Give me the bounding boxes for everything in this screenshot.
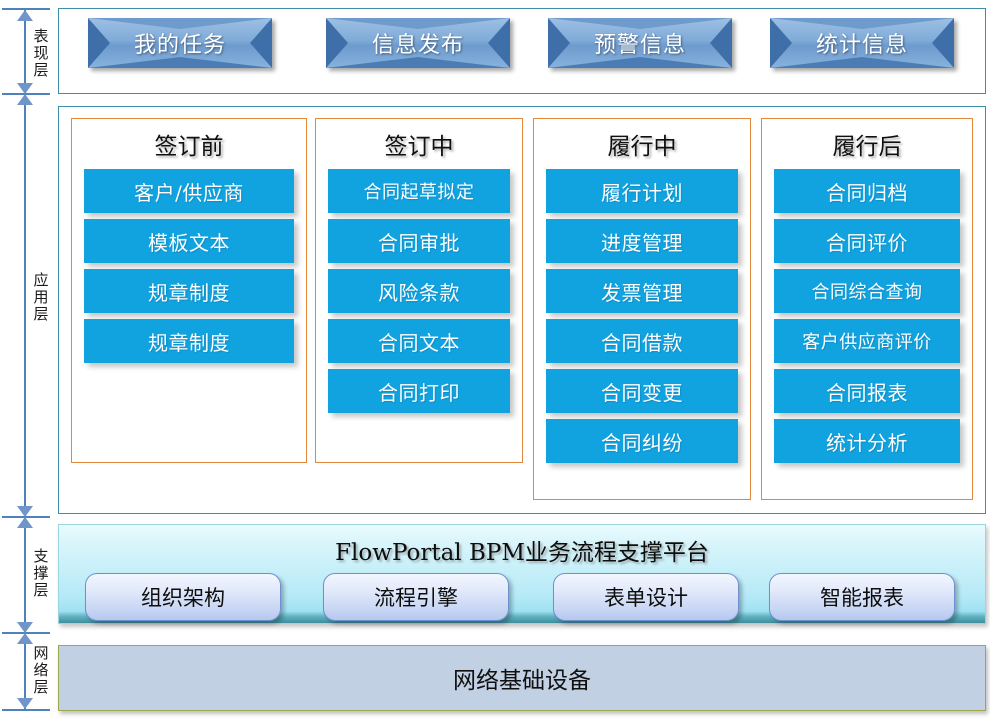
module-tile[interactable]: 风险条款 xyxy=(328,269,510,313)
module-tile[interactable]: 客户/供应商 xyxy=(84,169,294,213)
axis-arrow-d3-up-icon xyxy=(17,633,33,644)
nav-button-label: 我的任务 xyxy=(88,18,272,68)
nav-button-label: 统计信息 xyxy=(770,18,954,68)
column-title: 签订中 xyxy=(316,127,522,161)
column-title: 履行中 xyxy=(534,127,750,161)
nav-button-info-publish[interactable]: 信息发布 xyxy=(326,18,510,68)
module-tile[interactable]: 规章制度 xyxy=(84,269,294,313)
axis-arrow-d1-down-icon xyxy=(17,83,33,94)
module-tile[interactable]: 合同归档 xyxy=(774,169,960,213)
support-pill-smart-report[interactable]: 智能报表 xyxy=(769,573,955,621)
module-tile[interactable]: 统计分析 xyxy=(774,419,960,463)
axis-arrow-d1-up-icon xyxy=(17,94,33,105)
column-item-list: 合同归档 合同评价 合同综合查询 客户供应商评价 合同报表 统计分析 xyxy=(774,169,960,469)
nav-button-statistics-info[interactable]: 统计信息 xyxy=(770,18,954,68)
column-item-list: 履行计划 进度管理 发票管理 合同借款 合同变更 合同纠纷 xyxy=(546,169,738,469)
nav-button-label: 信息发布 xyxy=(326,18,510,68)
column-item-list: 合同起草拟定 合同审批 风险条款 合同文本 合同打印 xyxy=(328,169,510,419)
support-pill-form-design[interactable]: 表单设计 xyxy=(553,573,739,621)
support-platform-title: FlowPortal BPM业务流程支撑平台 xyxy=(59,533,985,567)
module-tile[interactable]: 合同变更 xyxy=(546,369,738,413)
axis-cap-bottom xyxy=(2,709,50,711)
axis-label-network: 网络层 xyxy=(30,645,52,696)
network-infrastructure-label: 网络基础设备 xyxy=(59,646,985,710)
application-column-pre-signing: 签订前 客户/供应商 模板文本 规章制度 规章制度 xyxy=(71,118,307,463)
module-tile[interactable]: 模板文本 xyxy=(84,219,294,263)
column-title: 签订前 xyxy=(72,127,306,161)
axis-label-support: 支撑层 xyxy=(30,548,52,599)
column-title: 履行后 xyxy=(762,127,972,161)
module-tile[interactable]: 合同综合查询 xyxy=(774,269,960,313)
axis-arrow-top-up-icon xyxy=(17,10,33,21)
module-tile[interactable]: 合同纠纷 xyxy=(546,419,738,463)
application-column-post-performing: 履行后 合同归档 合同评价 合同综合查询 客户供应商评价 合同报表 统计分析 xyxy=(761,118,973,500)
architecture-diagram: 表现层 应用层 支撑层 网络层 我的任务 信息发布 预警信息 统计信息 签订前 … xyxy=(0,0,990,719)
axis-arrow-d2-up-icon xyxy=(17,517,33,528)
support-pill-org-structure[interactable]: 组织架构 xyxy=(85,573,281,621)
nav-button-my-tasks[interactable]: 我的任务 xyxy=(88,18,272,68)
module-tile[interactable]: 合同审批 xyxy=(328,219,510,263)
nav-button-label: 预警信息 xyxy=(548,18,732,68)
nav-button-alert-info[interactable]: 预警信息 xyxy=(548,18,732,68)
axis-arrow-d2-down-icon xyxy=(17,506,33,517)
module-tile[interactable]: 合同借款 xyxy=(546,319,738,363)
module-tile[interactable]: 客户供应商评价 xyxy=(774,319,960,363)
support-pill-process-engine[interactable]: 流程引擎 xyxy=(323,573,509,621)
support-layer-panel: FlowPortal BPM业务流程支撑平台 组织架构 流程引擎 表单设计 智能… xyxy=(58,524,986,624)
module-tile[interactable]: 发票管理 xyxy=(546,269,738,313)
axis-rail xyxy=(24,8,26,711)
module-tile[interactable]: 履行计划 xyxy=(546,169,738,213)
axis-arrow-bottom-down-icon xyxy=(17,698,33,709)
network-layer-panel: 网络基础设备 xyxy=(58,645,986,711)
module-tile[interactable]: 合同文本 xyxy=(328,319,510,363)
application-column-performing: 履行中 履行计划 进度管理 发票管理 合同借款 合同变更 合同纠纷 xyxy=(533,118,751,500)
module-tile[interactable]: 进度管理 xyxy=(546,219,738,263)
module-tile[interactable]: 合同报表 xyxy=(774,369,960,413)
module-tile[interactable]: 规章制度 xyxy=(84,319,294,363)
module-tile[interactable]: 合同打印 xyxy=(328,369,510,413)
column-item-list: 客户/供应商 模板文本 规章制度 规章制度 xyxy=(84,169,294,369)
axis-label-application: 应用层 xyxy=(30,272,52,323)
axis-label-presentation: 表现层 xyxy=(30,28,52,79)
application-column-signing: 签订中 合同起草拟定 合同审批 风险条款 合同文本 合同打印 xyxy=(315,118,523,463)
module-tile[interactable]: 合同起草拟定 xyxy=(328,169,510,213)
axis-arrow-d3-down-icon xyxy=(17,622,33,633)
module-tile[interactable]: 合同评价 xyxy=(774,219,960,263)
